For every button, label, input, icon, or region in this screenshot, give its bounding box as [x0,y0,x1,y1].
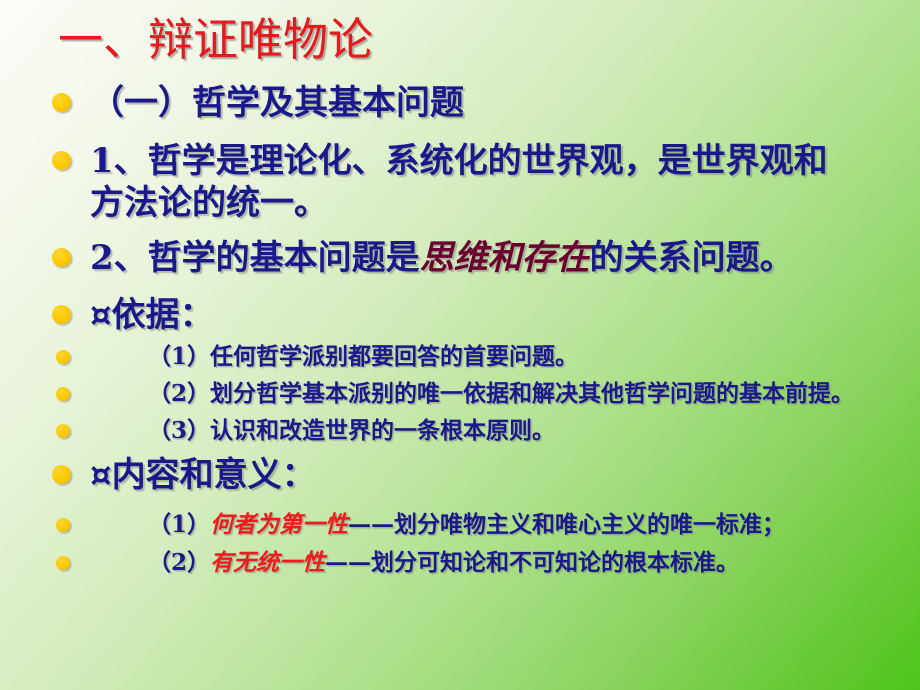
bullet-basis-item-2-label: （2）划分哲学基本派别的唯一依据和解决其他哲学问题的基本前提。 [148,379,920,408]
bullet-disc-icon [56,556,70,570]
bullet-basis-heading: ¤依据： [0,294,920,336]
bullet-point-1-continuation: 方法论的统一。 [90,182,920,224]
bullet-content-item-1: （1）何者为第一性——划分唯物主义和唯心主义的唯一标准； [0,510,920,539]
bullet-basis-item-1: （1）任何哲学派别都要回答的首要问题。 [0,342,920,371]
bullet-content-item-1-label: （1）何者为第一性——划分唯物主义和唯心主义的唯一标准； [148,510,920,539]
bullet-content-item-2-suffix: ——划分可知论和不可知论的根本标准。 [325,549,739,576]
bullet-content-item-2-emphasis: 有无统一性 [210,549,325,576]
bullet-point-1: 1、哲学是理论化、系统化的世界观，是世界观和 方法论的统一。 [0,140,920,224]
bullet-basis-item-1-label: （1）任何哲学派别都要回答的首要问题。 [148,342,920,371]
bullet-disc-icon [52,465,71,484]
bullet-point-2-emphasis: 思维和存在 [420,238,590,278]
bullet-point-1-label: 1、哲学是理论化、系统化的世界观，是世界观和 [90,140,920,182]
bullet-disc-icon [52,248,71,267]
bullet-disc-icon [56,518,70,532]
bullet-point-2-prefix: 2、哲学的基本问题是 [90,238,420,278]
bullet-point-2: 2、哲学的基本问题是思维和存在的关系问题。 [0,237,920,279]
bullet-point-2-suffix: 的关系问题。 [590,238,794,278]
bullet-content-heading-label: ¤内容和意义： [90,454,920,496]
bullet-content-item-1-prefix: （1） [148,511,210,538]
bullet-basis-item-3: （3）认识和改造世界的一条根本原则。 [0,416,920,445]
bullet-disc-icon [56,350,70,364]
slide-canvas: 一、辩证唯物论 （一）哲学及其基本问题 1、哲学是理论化、系统化的世界观，是世界… [0,0,920,690]
bullet-point-2-label: 2、哲学的基本问题是思维和存在的关系问题。 [90,237,920,279]
bullet-basis-item-2: （2）划分哲学基本派别的唯一依据和解决其他哲学问题的基本前提。 [0,379,920,408]
bullet-basis-heading-label: ¤依据： [90,294,920,336]
bullet-section-heading: （一）哲学及其基本问题 [0,82,920,124]
bullet-basis-item-3-label: （3）认识和改造世界的一条根本原则。 [148,416,920,445]
page-title: 一、辩证唯物论 [58,14,373,66]
bullet-section-heading-label: （一）哲学及其基本问题 [90,82,920,124]
bullet-disc-icon [52,93,71,112]
bullet-disc-icon [52,151,71,170]
bullet-disc-icon [56,387,70,401]
bullet-content-item-1-emphasis: 何者为第一性 [210,511,348,538]
bullet-content-item-2-label: （2）有无统一性——划分可知论和不可知论的根本标准。 [148,548,920,577]
bullet-content-heading: ¤内容和意义： [0,454,920,496]
bullet-content-item-2: （2）有无统一性——划分可知论和不可知论的根本标准。 [0,548,920,577]
bullet-disc-icon [56,424,70,438]
bullet-content-item-1-suffix: ——划分唯物主义和唯心主义的唯一标准； [348,511,785,538]
bullet-content-item-2-prefix: （2） [148,549,210,576]
bullet-disc-icon [52,305,71,324]
